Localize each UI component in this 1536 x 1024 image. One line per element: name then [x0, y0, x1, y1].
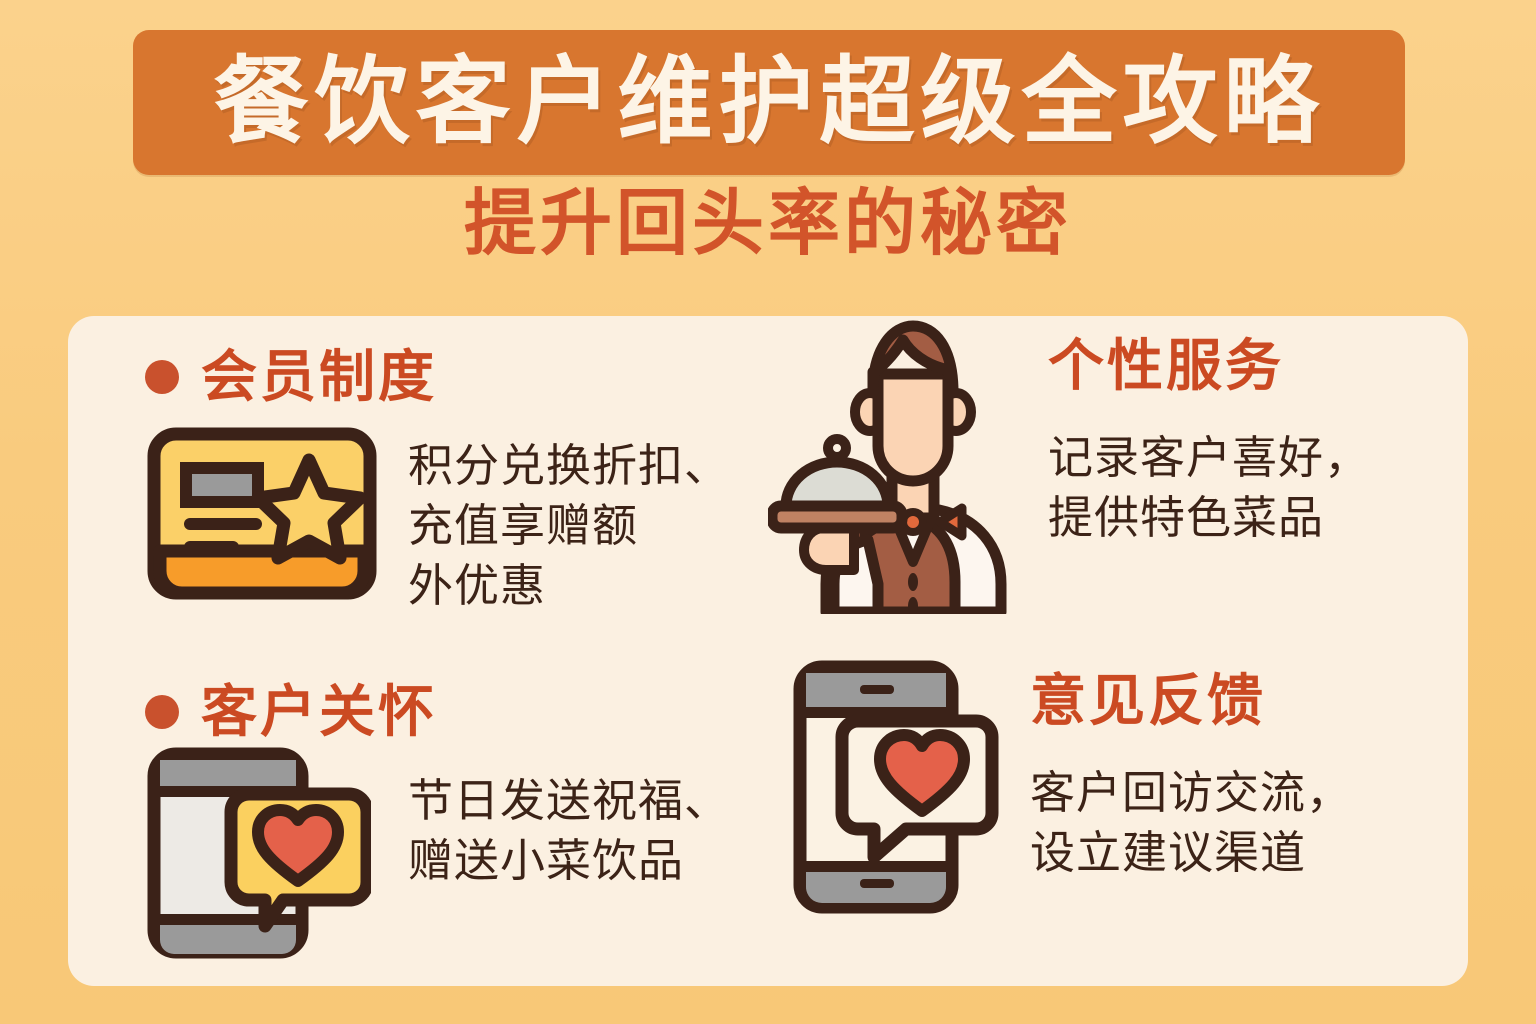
section-membership: 会员制度 积分兑换折扣、 充值享赠额 外优惠 — [68, 316, 768, 651]
section-personal-service: 个性服务 记录客户喜好， 提供特色菜品 — [768, 316, 1468, 651]
section-heading: 会员制度 — [201, 349, 437, 405]
title-banner: 餐饮客户维护超级全攻略 — [133, 30, 1405, 175]
section-body: 节日发送祝福、 赠送小菜饮品 — [408, 771, 730, 891]
section-customer-care: 客户关怀 节日发送祝福、 — [68, 651, 768, 986]
section-heading: 个性服务 — [1048, 338, 1284, 394]
content-card: 会员制度 积分兑换折扣、 充值享赠额 外优惠 — [68, 316, 1468, 986]
page-subtitle: 提升回头率的秘密 — [0, 188, 1536, 260]
section-heading-row: 意见反馈 — [1030, 673, 1266, 729]
section-heading-row: 会员制度 — [145, 349, 437, 405]
membership-card-icon — [146, 426, 378, 606]
section-heading: 意见反馈 — [1030, 673, 1266, 729]
bullet-dot-icon — [145, 695, 179, 729]
phone-feedback-icon — [790, 659, 1000, 919]
section-heading: 客户关怀 — [201, 684, 437, 740]
waiter-icon — [768, 314, 1058, 619]
section-body: 积分兑换折扣、 充值享赠额 外优惠 — [408, 436, 730, 616]
section-body: 记录客户喜好， 提供特色菜品 — [1048, 428, 1370, 548]
section-heading-row: 个性服务 — [1048, 338, 1284, 394]
section-body: 客户回访交流， 设立建议渠道 — [1030, 763, 1352, 883]
phone-heart-bubble-icon — [146, 746, 371, 966]
section-feedback: 意见反馈 客户回访交流， 设立建议渠道 — [768, 651, 1468, 986]
bullet-dot-icon — [145, 360, 179, 394]
page-title: 餐饮客户维护超级全攻略 — [213, 55, 1324, 150]
section-heading-row: 客户关怀 — [145, 684, 437, 740]
sections-grid: 会员制度 积分兑换折扣、 充值享赠额 外优惠 — [68, 316, 1468, 986]
poster-root: 餐饮客户维护超级全攻略 提升回头率的秘密 会员制度 — [0, 0, 1536, 1024]
